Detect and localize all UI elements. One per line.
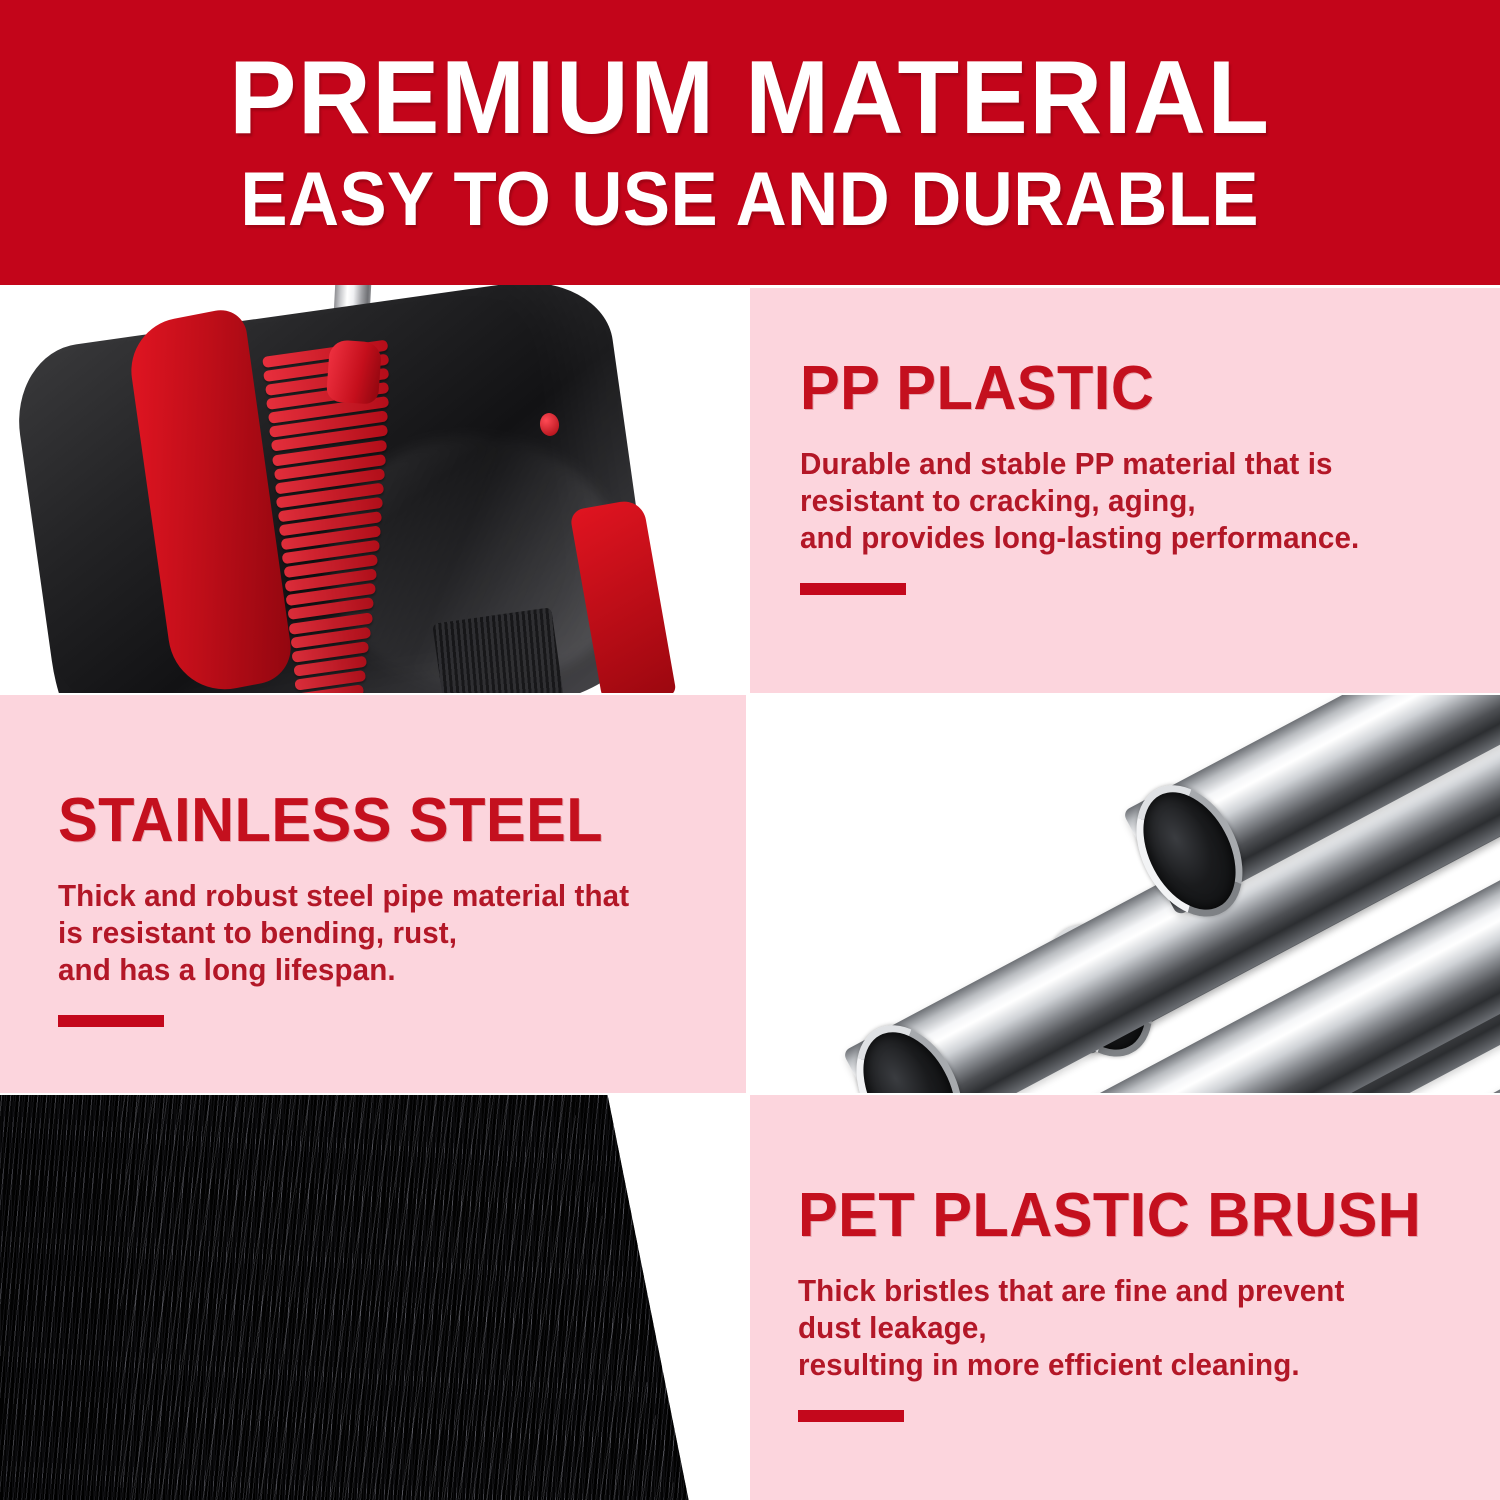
feature-image-pet-plastic-brush	[0, 1095, 746, 1500]
feature-body-line: and has a long lifespan.	[58, 952, 727, 989]
stainless-steel-pipes-photo	[750, 695, 1500, 1093]
steel-pipe-opening	[835, 1007, 984, 1093]
feature-text-pet-plastic-brush: PET PLASTIC BRUSH Thick bristles that ar…	[798, 1185, 1498, 1422]
dustpan-with-red-comb-edge-photo	[0, 285, 746, 693]
feature-heading-pp-plastic: PP PLASTIC	[800, 358, 1472, 420]
feature-text-stainless-steel: STAINLESS STEEL Thick and robust steel p…	[58, 790, 748, 1027]
feature-body-stainless-steel: Thick and robust steel pipe material tha…	[58, 878, 727, 989]
feature-accent-rule-pet-plastic-brush	[798, 1410, 904, 1422]
banner-title: PREMIUM MATERIAL	[229, 47, 1270, 150]
feature-body-line: Thick bristles that are fine and prevent	[798, 1273, 1477, 1310]
feature-accent-rule-pp-plastic	[800, 583, 906, 595]
feature-heading-pet-plastic-brush: PET PLASTIC BRUSH	[798, 1185, 1470, 1247]
feature-body-pp-plastic: Durable and stable PP material that is r…	[800, 446, 1479, 557]
feature-accent-rule-stainless-steel	[58, 1015, 164, 1027]
feature-body-line: dust leakage,	[798, 1310, 1477, 1347]
dustpan-comb-teeth	[242, 304, 593, 693]
feature-heading-stainless-steel: STAINLESS STEEL	[58, 790, 720, 852]
feature-body-pet-plastic-brush: Thick bristles that are fine and prevent…	[798, 1273, 1477, 1384]
banner-subtitle: EASY TO USE AND DURABLE	[241, 162, 1260, 238]
feature-image-stainless-steel	[750, 695, 1500, 1093]
feature-body-line: Durable and stable PP material that is	[800, 446, 1479, 483]
feature-image-pp-plastic	[0, 285, 746, 693]
feature-body-line: Thick and robust steel pipe material tha…	[58, 878, 727, 915]
feature-body-line: is resistant to bending, rust,	[58, 915, 727, 952]
feature-body-line: and provides long-lasting performance.	[800, 520, 1479, 557]
feature-text-pp-plastic: PP PLASTIC Durable and stable PP materia…	[800, 358, 1500, 595]
feature-body-line: resistant to cracking, aging,	[800, 483, 1479, 520]
header-banner: PREMIUM MATERIAL EASY TO USE AND DURABLE	[0, 0, 1500, 285]
feature-body-line: resulting in more efficient cleaning.	[798, 1347, 1477, 1384]
black-broom-bristles-photo	[0, 1095, 746, 1500]
product-feature-infographic: PREMIUM MATERIAL EASY TO USE AND DURABLE…	[0, 0, 1500, 1500]
dustpan-pole-socket	[326, 339, 382, 404]
